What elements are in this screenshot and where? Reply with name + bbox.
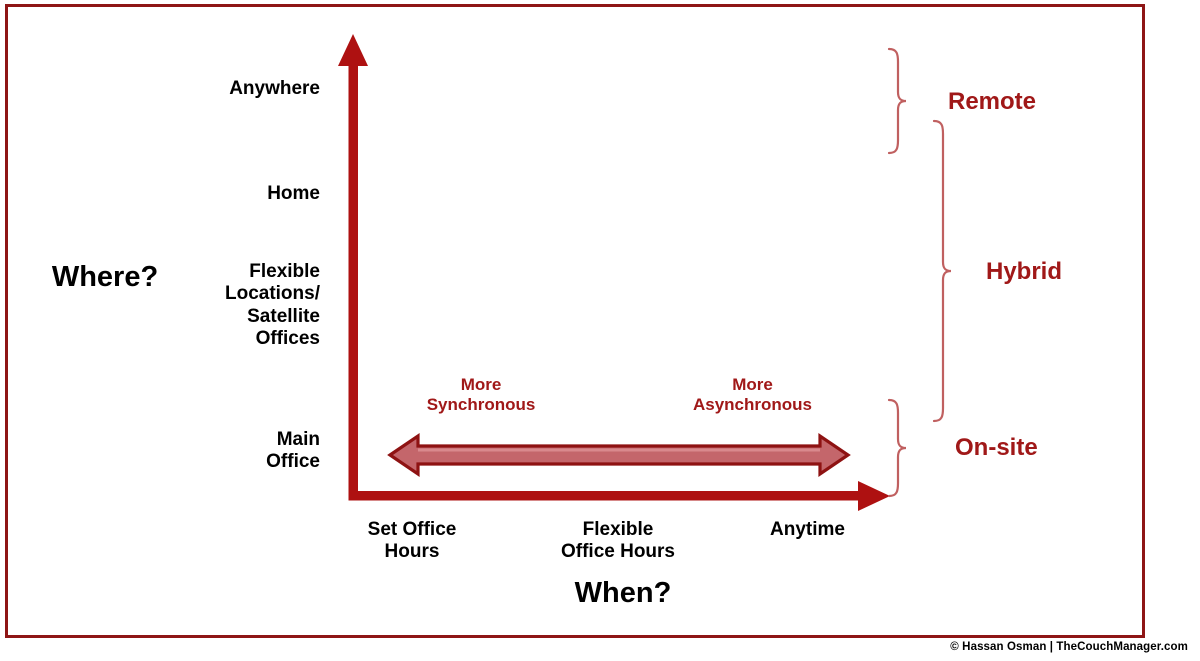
y-axis-arrow <box>338 34 368 500</box>
bracket-onsite <box>889 400 906 496</box>
bracket-remote <box>889 49 906 153</box>
x-axis-title-when: When? <box>528 576 718 610</box>
bracket-label-hybrid: Hybrid <box>986 258 1156 286</box>
x-tick-label-set-office-hours: Set Office Hours <box>332 519 492 564</box>
x-axis-arrow <box>349 481 891 511</box>
annotation-more-synchronous: More Synchronous <box>392 375 570 416</box>
diagram-canvas: Anywhere Home Flexible Locations/ Satell… <box>0 0 1200 661</box>
y-axis-title-where: Where? <box>20 260 190 294</box>
x-tick-label-flexible-office-hours: Flexible Office Hours <box>528 519 708 564</box>
annotation-more-asynchronous: More Asynchronous <box>660 375 845 416</box>
bracket-hybrid <box>934 121 951 421</box>
synchronicity-double-arrow <box>390 436 848 474</box>
copyright-notice: © Hassan Osman | TheCouchManager.com <box>950 641 1188 653</box>
y-tick-label-anywhere: Anywhere <box>150 78 320 100</box>
y-tick-label-main-office: Main Office <box>150 429 320 474</box>
x-tick-label-anytime: Anytime <box>730 519 885 541</box>
y-tick-label-home: Home <box>150 183 320 205</box>
bracket-label-onsite: On-site <box>955 434 1125 462</box>
bracket-label-remote: Remote <box>948 88 1118 116</box>
